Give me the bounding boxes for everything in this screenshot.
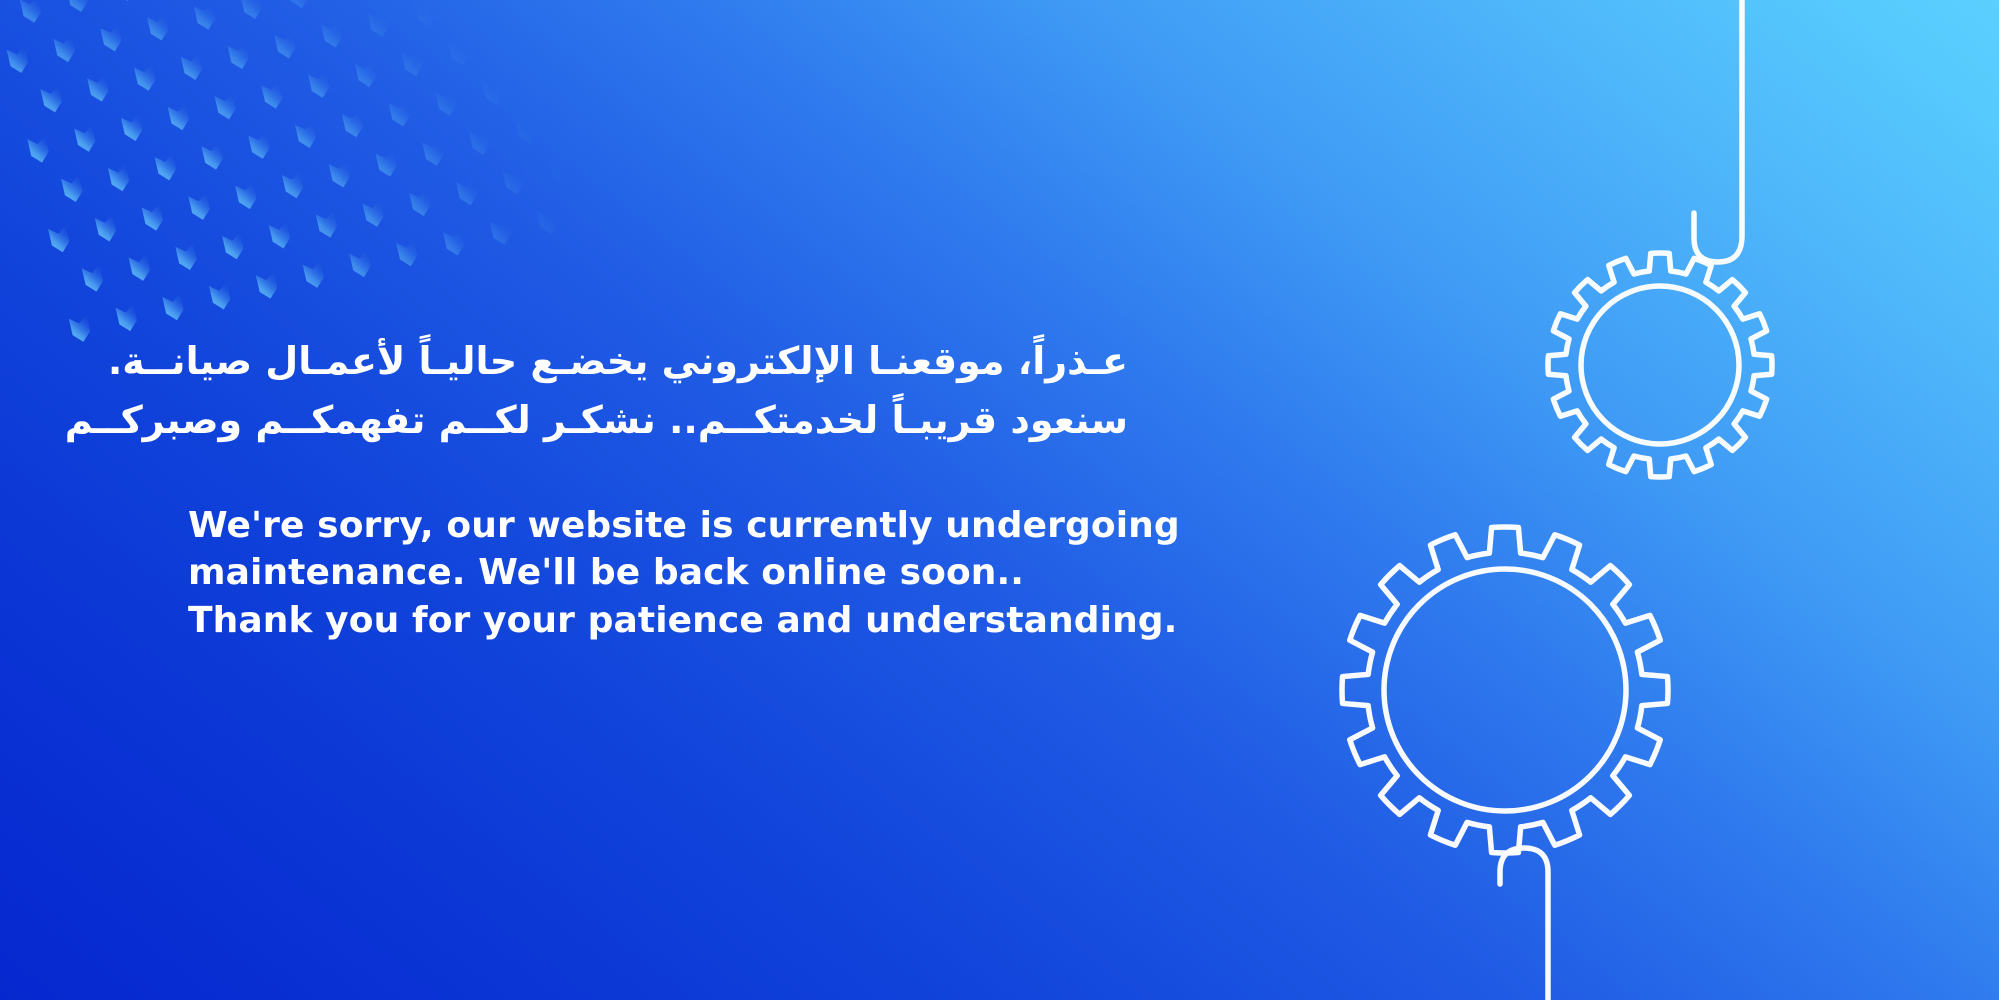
maintenance-page: عـذراً، موقعنـا الإلكتروني يخضـع حاليـاً… <box>0 0 1999 1000</box>
english-line-1: We're sorry, our website is currently un… <box>188 502 1188 550</box>
large-gear-outline <box>1342 527 1668 853</box>
english-line-2: maintenance. We'll be back online soon.. <box>188 549 1188 597</box>
small-gear-outline <box>1548 253 1772 477</box>
arabic-line-1: عـذراً، موقعنـا الإلكتروني يخضـع حاليـاً… <box>188 332 1128 391</box>
large-gear-inner-circle <box>1384 569 1626 811</box>
small-gear-inner-circle <box>1581 286 1739 444</box>
gears-illustration <box>1239 0 1999 1000</box>
arabic-line-2: سنعود قريبـاً لخدمتكــم.. نشكـر لكــم تف… <box>188 391 1128 450</box>
arabic-message: عـذراً، موقعنـا الإلكتروني يخضـع حاليـاً… <box>188 332 1128 450</box>
top-connector-line <box>1694 0 1742 262</box>
english-line-3: Thank you for your patience and understa… <box>188 597 1188 645</box>
bottom-connector-line <box>1500 848 1548 1000</box>
english-message: We're sorry, our website is currently un… <box>188 502 1188 645</box>
maintenance-message: عـذراً، موقعنـا الإلكتروني يخضـع حاليـاً… <box>188 332 1188 644</box>
